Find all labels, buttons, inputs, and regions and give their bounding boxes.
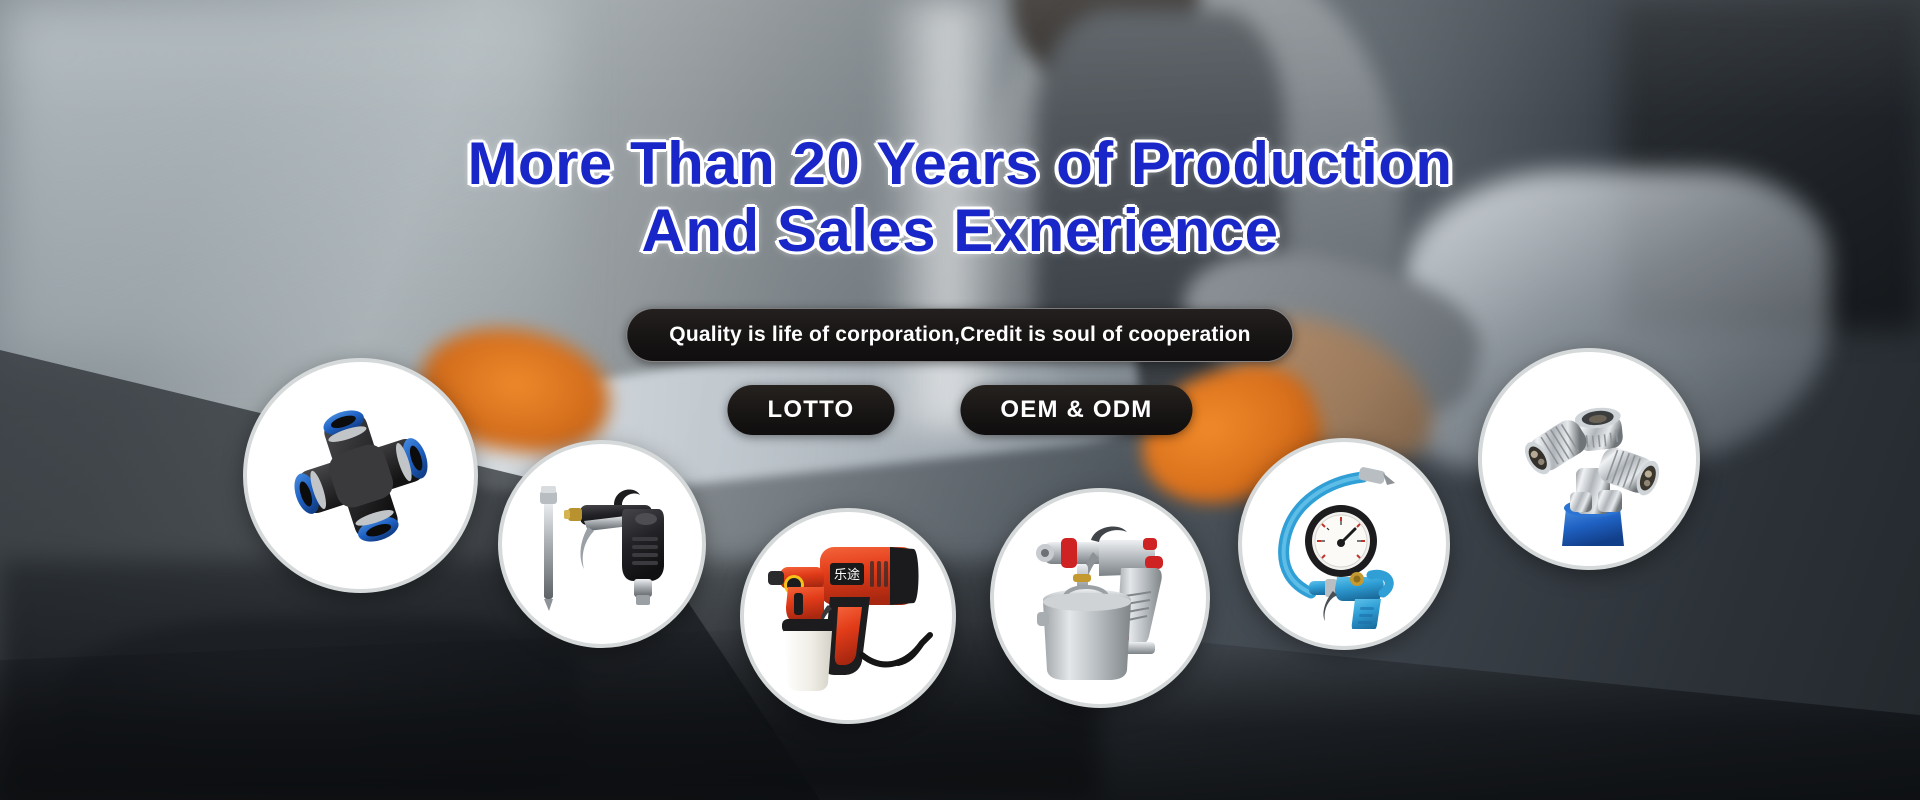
quick-connect-couplers-icon [1502, 372, 1677, 547]
headline-line-1: More Than 20 Years of Production [0, 130, 1920, 197]
badge-group: LOTTO OEM & ODM [727, 385, 1192, 435]
air-blow-gun-icon [522, 469, 682, 619]
promo-banner: More Than 20 Years of Production And Sal… [0, 0, 1920, 800]
badge-oem-odm[interactable]: OEM & ODM [960, 385, 1192, 435]
badge-lotto[interactable]: LOTTO [727, 385, 894, 435]
product-circle-suction-spray-gun[interactable]: Chrome suction feed spray gun with alumi… [990, 488, 1210, 708]
product-circle-air-blow-gun[interactable]: Black air blow gun with chrome trigger a… [498, 440, 706, 648]
product-circle-electric-spray-gun[interactable]: Red and black electric HVLP paint spray … [740, 508, 956, 724]
tagline-pill: Quality is life of corporation,Credit is… [626, 308, 1293, 362]
headline: More Than 20 Years of Production And Sal… [0, 130, 1920, 264]
top-highlight-overlay [0, 0, 1920, 120]
svg-text:乐途: 乐途 [834, 567, 860, 583]
headline-line-2: And Sales Exnerience [0, 197, 1920, 264]
suction-spray-gun-icon [1015, 512, 1185, 684]
product-circle-quick-couplers[interactable]: Three chrome quick connect air couplers … [1478, 348, 1700, 570]
pneumatic-cross-fitting-icon [276, 396, 446, 556]
product-circle-pneumatic-cross-fitting[interactable]: Black four-way cross push-to-connect pne… [243, 358, 478, 593]
electric-spray-gun-icon: 乐途 [758, 531, 938, 701]
product-circle-tire-inflator-gauge[interactable]: Blue tire inflator gun with round pressu… [1238, 438, 1450, 650]
tire-inflator-gauge-icon [1259, 459, 1429, 629]
